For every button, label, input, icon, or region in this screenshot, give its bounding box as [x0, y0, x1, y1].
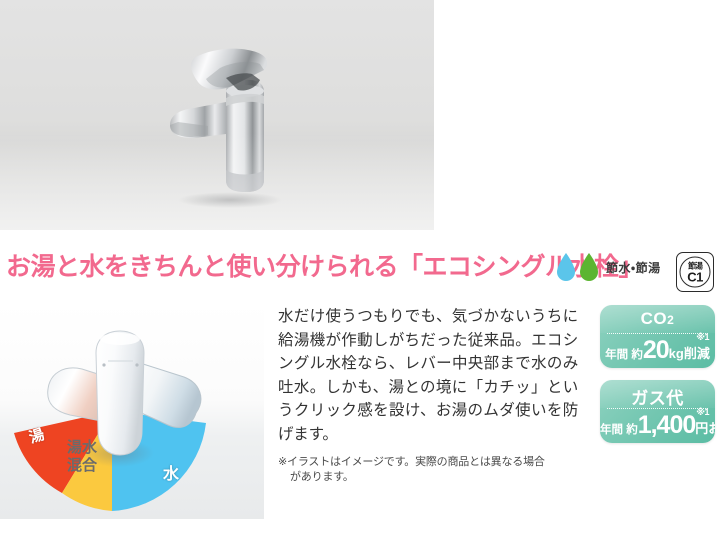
badge-gas-divider — [607, 408, 708, 409]
badge-co2-suffix: 削減 — [684, 346, 710, 361]
page-title: お湯と水をきちんと使い分けられる「エコシングル水栓」 — [6, 248, 643, 286]
badge-gas-value-row: 年間 約1,400円お得 — [600, 411, 715, 440]
badge-gas-value: 1,400 — [638, 411, 696, 439]
lever-fan-diagram — [0, 303, 264, 519]
lever-range-illustration: 湯 湯水 混合 水 — [0, 303, 264, 519]
badge-co2-value-row: 年間 約20kg削減 — [600, 336, 715, 365]
setsuyu-c1-badge: 節湯 C1 — [676, 252, 714, 292]
badge-co2-title-text: CO — [641, 309, 668, 328]
sector-label-mix-line2: 混合 — [67, 457, 97, 474]
badge-co2-title: CO2 — [600, 309, 715, 329]
headline-row: お湯と水をきちんと使い分けられる「エコシングル水栓」 節水・節湯 — [0, 246, 720, 292]
sector-label-cold: 水 — [163, 460, 179, 484]
badge-co2-value: 20 — [643, 336, 669, 364]
sector-label-mix-line1: 湯水 — [67, 439, 97, 456]
disclaimer-line1: ※イラストはイメージです。実際の商品とは異なる場合 — [278, 456, 545, 468]
badge-gas-title: ガス代 — [600, 384, 715, 409]
badge-gas: ガス代 ※1 年間 約1,400円お得 — [600, 380, 715, 443]
disclaimer-note: ※イラストはイメージです。実際の商品とは異なる場合 があります。 — [278, 455, 578, 485]
eco-drop-icons — [556, 252, 602, 284]
leaf-drop-icon — [579, 252, 599, 282]
badge-co2-prefix: 年間 約 — [605, 349, 643, 361]
badge-gas-unit: 円 — [695, 421, 708, 436]
badge-co2-divider — [607, 333, 708, 334]
setsuyu-c1-circle: 節湯 C1 — [680, 257, 711, 288]
badge-gas-prefix: 年間 約 — [600, 424, 638, 436]
eco-label: 節水・節湯 — [606, 259, 661, 276]
water-drop-icon — [556, 252, 576, 282]
disclaimer-line2: があります。 — [278, 470, 578, 485]
product-photo — [0, 0, 434, 230]
description-block: 水だけ使うつもりでも、気づかないうちに給湯機が作動しがちだった従来品。エコシング… — [278, 305, 578, 485]
sector-label-mix: 湯水 混合 — [67, 439, 97, 475]
description-paragraph: 水だけ使うつもりでも、気づかないうちに給湯機が作動しがちだった従来品。エコシング… — [278, 305, 578, 446]
badge-gas-suffix: お得 — [708, 421, 715, 436]
faucet-illustration — [108, 22, 348, 212]
setsuyu-c1-bottom-text: C1 — [687, 270, 703, 283]
badge-co2-unit: kg — [669, 346, 684, 361]
badge-co2-title-sub: 2 — [667, 313, 674, 327]
badge-co2: CO2 ※1 年間 約20kg削減 — [600, 305, 715, 368]
